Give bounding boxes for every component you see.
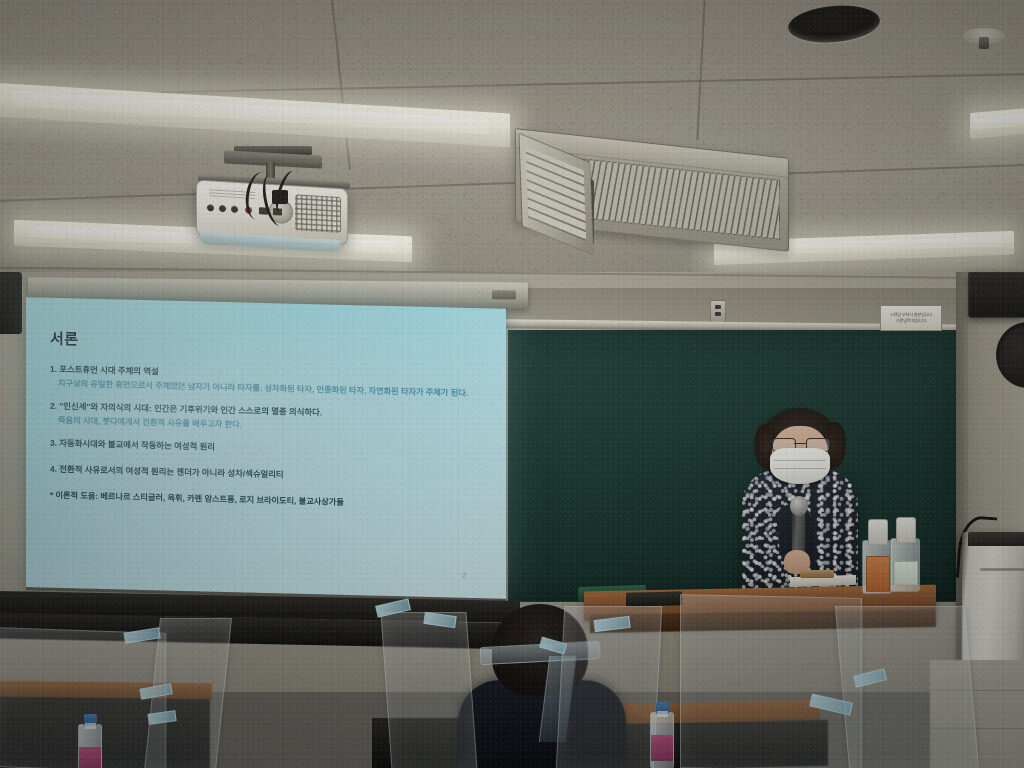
projector-vent	[295, 194, 341, 233]
podium-top-surface	[968, 532, 1024, 546]
projector-connector	[272, 190, 288, 204]
water-bottle	[650, 712, 674, 768]
bottle-label	[651, 735, 673, 761]
projector-port	[219, 205, 226, 212]
wall-speaker-left	[0, 272, 22, 334]
screen-roller-knob	[492, 290, 516, 299]
microphone-head	[790, 496, 808, 516]
board-sign-line2: 스탠딩백 지웁니다	[896, 318, 926, 324]
bottle-neck	[85, 723, 96, 729]
hand-sanitizer-bottle	[890, 538, 920, 592]
ceiling-projector	[186, 146, 356, 256]
aircon-intake-slots	[526, 147, 586, 242]
sanitizer-pump	[896, 517, 916, 543]
sprinkler-head	[979, 37, 989, 49]
wall-outlet-icon	[710, 300, 726, 324]
desk-small-object	[800, 570, 834, 578]
mask-fold	[774, 468, 826, 469]
projection-screen: 서론 1. 포스트휴먼 시대 주체의 역설 지구상의 유일한 휴먼으로서 주체였…	[26, 297, 506, 602]
outlet-slot	[715, 305, 721, 309]
projector-port	[231, 206, 238, 213]
fluorescent-tube	[973, 113, 1024, 130]
sanitizer-pump	[868, 519, 888, 545]
wall-speaker-right	[968, 272, 1024, 318]
slide-item: 3. 자동화시대와 불교에서 작동하는 여성적 원리	[50, 437, 484, 460]
microphone-icon	[792, 508, 805, 556]
slide-page-number: 2	[462, 573, 466, 580]
desk-dark-object	[626, 591, 682, 606]
acrylic-divider	[380, 612, 477, 768]
presentation-slide: 서론 1. 포스트휴먼 시대 주체의 역설 지구상의 유일한 휴먼으로서 주체였…	[26, 297, 506, 599]
lecture-hall-photo: 스탠딩 부착식 칠판입니다 스탠딩백 지웁니다 서론 1. 포스트휴먼 시대 주…	[0, 0, 1024, 768]
ceiling-light-fixture	[970, 107, 1024, 139]
face-mask-icon	[770, 448, 830, 484]
bottle-neck	[657, 711, 668, 717]
mask-fold	[774, 460, 826, 461]
glasses-bridge	[794, 443, 806, 444]
acrylic-divider	[680, 594, 862, 768]
podium-slot	[980, 568, 1024, 571]
slide-title: 서론	[50, 328, 484, 360]
projector-port	[207, 204, 214, 211]
board-notice-sign: 스탠딩 부착식 칠판입니다 스탠딩백 지웁니다	[880, 305, 942, 331]
water-bottle	[78, 724, 102, 768]
outlet-slot	[715, 312, 721, 316]
fire-sprinkler-icon	[962, 28, 1006, 50]
bottle-label	[79, 747, 101, 768]
orange-package	[866, 556, 890, 592]
sanitizer-label	[894, 561, 918, 585]
slide-item: 4. 전환적 사유로서의 여성적 원리는 젠더가 아니라 성차/섹슈얼리티	[50, 463, 484, 486]
slide-footnote: * 이론적 도움: 베르나르 스티글러, 육휘, 카렌 암스트롱, 로지 브라이…	[50, 489, 484, 511]
